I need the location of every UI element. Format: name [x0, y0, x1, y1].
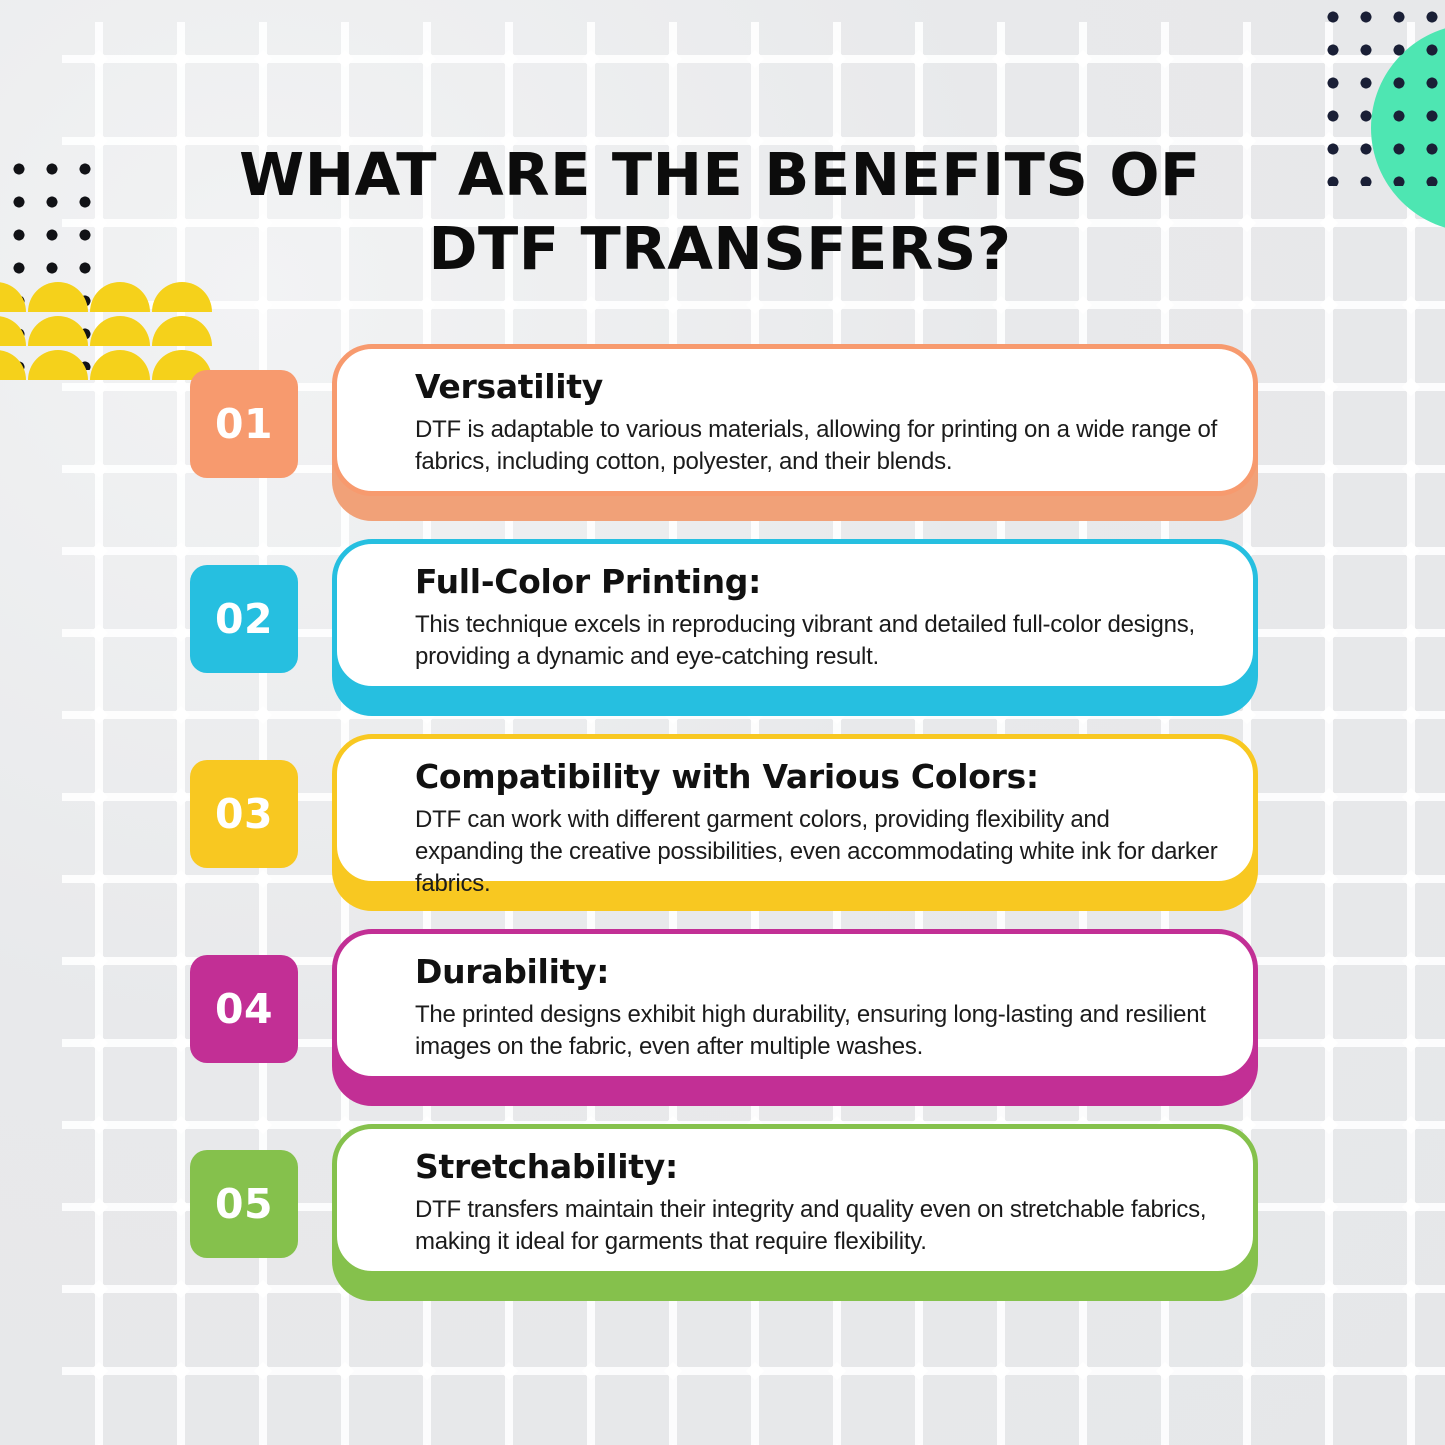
benefit-card[interactable]: Stretchability:DTF transfers maintain th…: [332, 1124, 1258, 1276]
benefit-number-badge[interactable]: 04: [190, 955, 298, 1063]
benefit-title: Durability:: [415, 952, 1223, 992]
benefit-card[interactable]: VersatilityDTF is adaptable to various m…: [332, 344, 1258, 496]
benefit-description: DTF is adaptable to various materials, a…: [415, 414, 1223, 478]
benefits-list: 01VersatilityDTF is adaptable to various…: [0, 340, 1445, 1315]
benefit-card[interactable]: Compatibility with Various Colors:DTF ca…: [332, 734, 1258, 886]
benefit-description: The printed designs exhibit high durabil…: [415, 999, 1223, 1063]
page-title: WHAT ARE THE BENEFITS OF DTF TRANSFERS?: [175, 138, 1265, 286]
semicircle-shape: [28, 282, 88, 312]
benefit-number-badge[interactable]: 05: [190, 1150, 298, 1258]
benefit-description: This technique excels in reproducing vib…: [415, 609, 1223, 673]
semicircle-shape: [90, 282, 150, 312]
benefit-card-wrapper: Stretchability:DTF transfers maintain th…: [332, 1124, 1258, 1296]
dot-grid-top-right-icon: [1322, 6, 1445, 186]
semicircle-shape: [0, 282, 26, 312]
infographic-poster: WHAT ARE THE BENEFITS OF DTF TRANSFERS? …: [0, 0, 1445, 1445]
benefit-row: 02Full-Color Printing:This technique exc…: [0, 535, 1445, 730]
benefit-card[interactable]: Durability:The printed designs exhibit h…: [332, 929, 1258, 1081]
benefit-card[interactable]: Full-Color Printing:This technique excel…: [332, 539, 1258, 691]
benefit-row: 03Compatibility with Various Colors:DTF …: [0, 730, 1445, 925]
benefit-title: Compatibility with Various Colors:: [415, 757, 1223, 797]
benefit-title: Versatility: [415, 367, 1223, 407]
benefit-row: 05Stretchability:DTF transfers maintain …: [0, 1120, 1445, 1315]
benefit-description: DTF transfers maintain their integrity a…: [415, 1194, 1223, 1258]
benefit-card-wrapper: Durability:The printed designs exhibit h…: [332, 929, 1258, 1101]
benefit-row: 01VersatilityDTF is adaptable to various…: [0, 340, 1445, 535]
benefit-row: 04Durability:The printed designs exhibit…: [0, 925, 1445, 1120]
benefit-number-badge[interactable]: 03: [190, 760, 298, 868]
benefit-description: DTF can work with different garment colo…: [415, 804, 1223, 900]
benefit-number-badge[interactable]: 01: [190, 370, 298, 478]
benefit-card-wrapper: Compatibility with Various Colors:DTF ca…: [332, 734, 1258, 906]
benefit-title: Stretchability:: [415, 1147, 1223, 1187]
benefit-number-badge[interactable]: 02: [190, 565, 298, 673]
benefit-card-wrapper: VersatilityDTF is adaptable to various m…: [332, 344, 1258, 516]
benefit-card-wrapper: Full-Color Printing:This technique excel…: [332, 539, 1258, 711]
benefit-title: Full-Color Printing:: [415, 562, 1223, 602]
